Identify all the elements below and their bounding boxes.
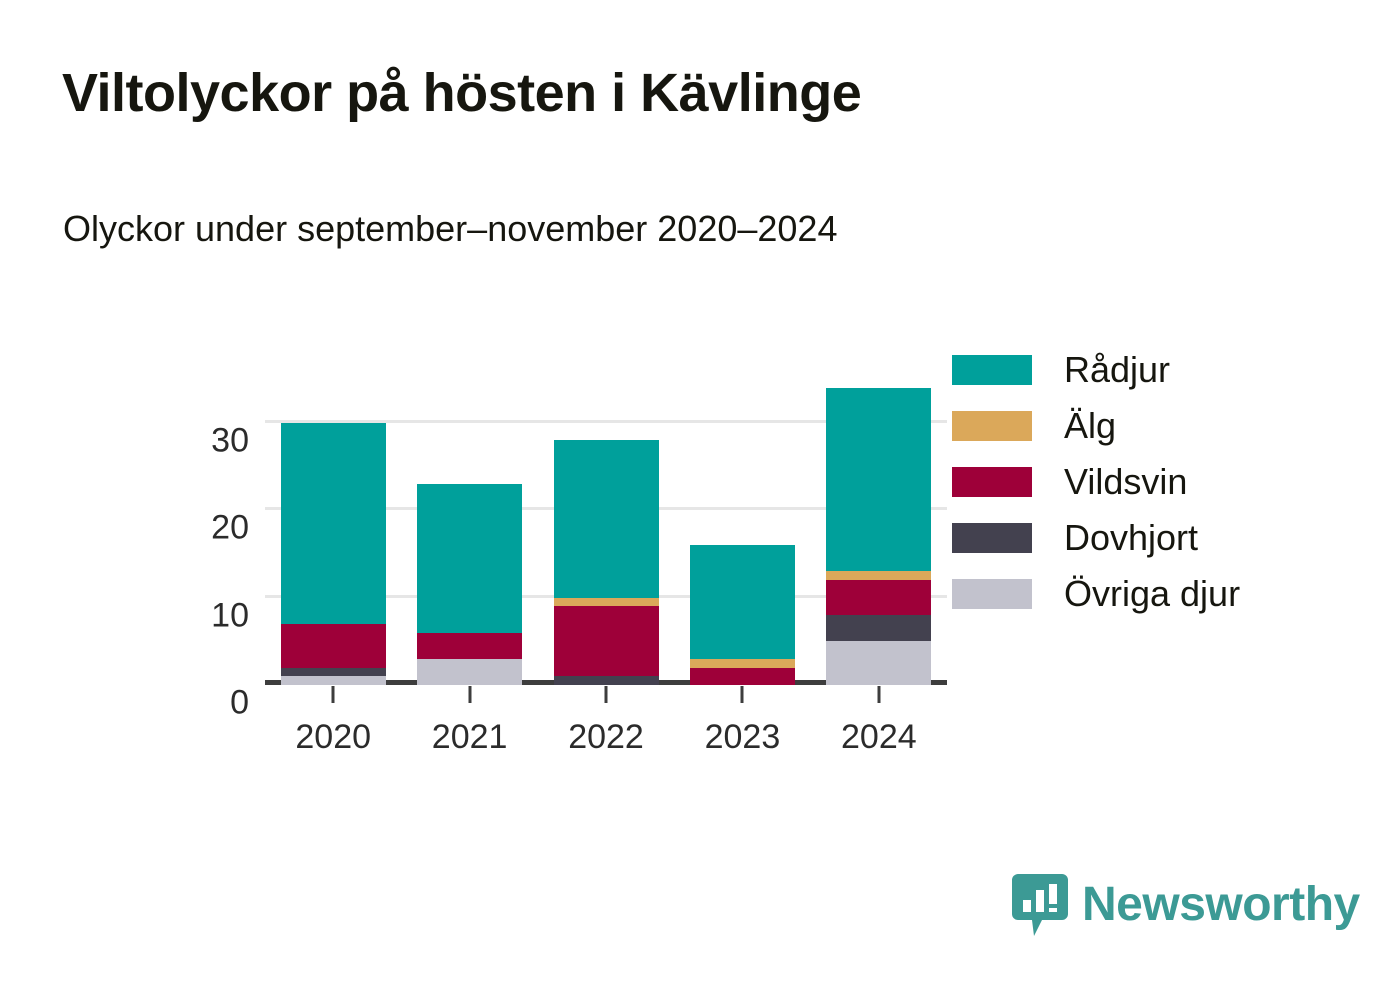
stacked-bar[interactable]: [554, 440, 659, 685]
y-axis-tick-label: 10: [177, 596, 249, 635]
legend-item[interactable]: Dovhjort: [952, 520, 1240, 556]
legend-label: Dovhjort: [1064, 520, 1198, 556]
legend-swatch: [952, 411, 1032, 441]
bar-segment[interactable]: [826, 615, 931, 641]
bar-group: 20202021202220232024: [265, 388, 947, 685]
bar-segment[interactable]: [826, 641, 931, 685]
legend-item[interactable]: Rådjur: [952, 352, 1240, 388]
bar-segment[interactable]: [417, 633, 522, 659]
bar-slot: 2021: [401, 388, 537, 685]
bar-segment[interactable]: [554, 606, 659, 676]
legend-label: Rådjur: [1064, 352, 1170, 388]
bar-segment[interactable]: [281, 624, 386, 668]
bar-segment[interactable]: [417, 659, 522, 685]
legend-swatch: [952, 523, 1032, 553]
newsworthy-logo: Newsworthy: [1012, 874, 1360, 936]
y-axis-tick-label: 30: [177, 421, 249, 460]
stacked-bar[interactable]: [826, 388, 931, 685]
x-axis-tick-label: 2020: [295, 718, 371, 757]
legend-label: Vildsvin: [1064, 464, 1187, 500]
x-axis-tick-label: 2024: [841, 718, 917, 757]
y-axis-tick-label: 20: [177, 509, 249, 548]
legend-item[interactable]: Älg: [952, 408, 1240, 444]
x-axis-tick: [877, 686, 880, 703]
x-axis-tick-label: 2021: [432, 718, 508, 757]
bar-segment[interactable]: [554, 598, 659, 607]
logo-wordmark: Newsworthy: [1082, 881, 1360, 929]
legend-swatch: [952, 467, 1032, 497]
bar-segment[interactable]: [826, 388, 931, 571]
legend-label: Övriga djur: [1064, 576, 1240, 612]
bar-segment[interactable]: [826, 571, 931, 580]
bar-segment[interactable]: [281, 676, 386, 685]
legend-swatch: [952, 355, 1032, 385]
stacked-bar[interactable]: [417, 484, 522, 685]
page-subtitle: Olyckor under september–november 2020–20…: [63, 208, 837, 250]
stacked-bar[interactable]: [690, 545, 795, 685]
bar-segment[interactable]: [690, 545, 795, 659]
legend-item[interactable]: Övriga djur: [952, 576, 1240, 612]
x-axis-tick: [605, 686, 608, 703]
bar-segment[interactable]: [281, 668, 386, 677]
bar-segment[interactable]: [690, 659, 795, 668]
bar-segment[interactable]: [554, 440, 659, 597]
y-axis-tick-label: 0: [177, 684, 249, 723]
bar-segment[interactable]: [417, 484, 522, 633]
chart-legend: RådjurÄlgVildsvinDovhjortÖvriga djur: [952, 352, 1240, 612]
x-axis-tick: [332, 686, 335, 703]
bar-segment[interactable]: [554, 676, 659, 685]
legend-swatch: [952, 579, 1032, 609]
bar-slot: 2020: [265, 388, 401, 685]
page-title: Viltolyckor på hösten i Kävlinge: [62, 62, 861, 124]
x-axis-tick-label: 2022: [568, 718, 644, 757]
legend-label: Älg: [1064, 408, 1116, 444]
bar-slot: 2022: [538, 388, 674, 685]
x-axis-tick: [741, 686, 744, 703]
bar-segment[interactable]: [281, 423, 386, 624]
x-axis-tick-label: 2023: [705, 718, 781, 757]
chart-page: Viltolyckor på hösten i Kävlinge Olyckor…: [0, 0, 1382, 999]
bar-segment[interactable]: [690, 668, 795, 685]
bar-slot: 2023: [674, 388, 810, 685]
bar-chart-speech-bubble-icon: [1012, 874, 1068, 936]
bar-slot: 2024: [811, 388, 947, 685]
legend-item[interactable]: Vildsvin: [952, 464, 1240, 500]
stacked-bar[interactable]: [281, 423, 386, 685]
x-axis-tick: [468, 686, 471, 703]
plot-area: 0102030 20202021202220232024: [177, 365, 947, 725]
bar-segment[interactable]: [826, 580, 931, 615]
